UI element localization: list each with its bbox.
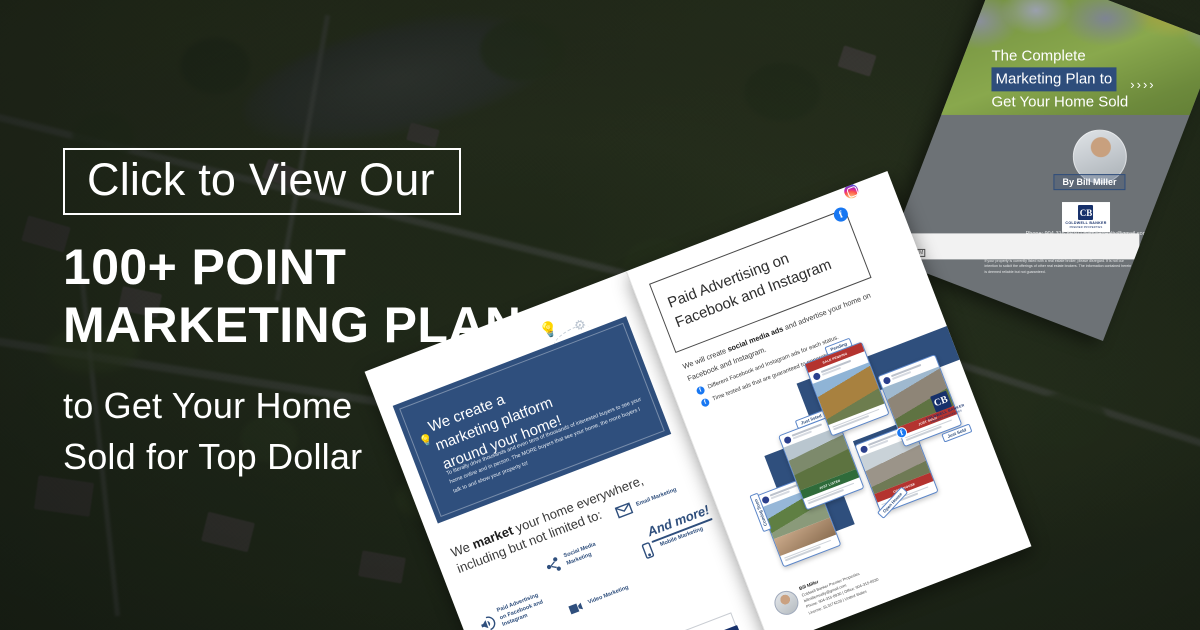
- cover-title: The Complete Marketing Plan to Get Your …: [991, 45, 1181, 112]
- facebook-bullet-icon: f: [700, 398, 710, 408]
- post-avatar: [882, 376, 891, 385]
- promo-banner[interactable]: Click to View Our 100+ POINT MARKETING P…: [0, 0, 1200, 630]
- brand-tagline: PREMIER PROPERTIES: [1070, 226, 1103, 229]
- facebook-icon: f: [832, 206, 850, 224]
- subtitle-line-1: to Get Your Home: [63, 380, 623, 431]
- share-nodes-icon: [542, 555, 564, 577]
- channel-label: Paid Advertising on Facebook and Instagr…: [496, 592, 547, 630]
- agent-photo: [771, 588, 802, 619]
- click-to-view-button[interactable]: Click to View Our: [63, 148, 461, 215]
- channel-label: YouTube Marketing: [610, 622, 658, 630]
- post-avatar: [761, 495, 770, 504]
- cover-title-line-1: The Complete: [991, 45, 1181, 67]
- post-avatar: [783, 435, 792, 444]
- post-avatar: [859, 444, 868, 453]
- agent-details: Bill Miller Coldwell Banker Premier Prop…: [798, 558, 882, 616]
- cover-title-line-3: Get Your Home Sold: [991, 91, 1181, 113]
- channel-youtube[interactable]: YouTube Marketing: [590, 621, 660, 630]
- mobile-phone-icon: [637, 540, 659, 562]
- headline-block: Click to View Our 100+ POINT MARKETING P…: [63, 148, 623, 482]
- cb-monogram-icon: CB: [1078, 205, 1093, 220]
- cover-legal-disclaimer: If your property is currently listed wit…: [984, 259, 1134, 275]
- brand-name: COLDWELL BANKER: [1065, 221, 1106, 225]
- video-camera-icon: [565, 597, 587, 619]
- title-line-2: MARKETING PLAN: [63, 296, 623, 354]
- cover-title-line-2: Marketing Plan to: [991, 67, 1116, 91]
- post-avatar: [812, 371, 821, 380]
- cover-byline: By Bill Miller: [1053, 174, 1125, 190]
- cta-label: Click to View Our: [87, 157, 435, 202]
- channel-video[interactable]: Video Marketing: [565, 579, 635, 619]
- channel-label: Social Media Marketing: [563, 537, 611, 568]
- facebook-bullet-icon: f: [695, 385, 705, 395]
- title-line-1: 100+ POINT: [63, 238, 623, 296]
- channel-paid-advertising[interactable]: Paid Advertising on Facebook and Instagr…: [476, 592, 548, 630]
- subtitle-line-2: Sold for Top Dollar: [63, 431, 623, 482]
- coldwell-banker-logo: CB COLDWELL BANKER PREMIER PROPERTIES: [1062, 202, 1110, 232]
- channel-label: Video Marketing: [587, 583, 633, 607]
- megaphone-icon: [477, 613, 499, 630]
